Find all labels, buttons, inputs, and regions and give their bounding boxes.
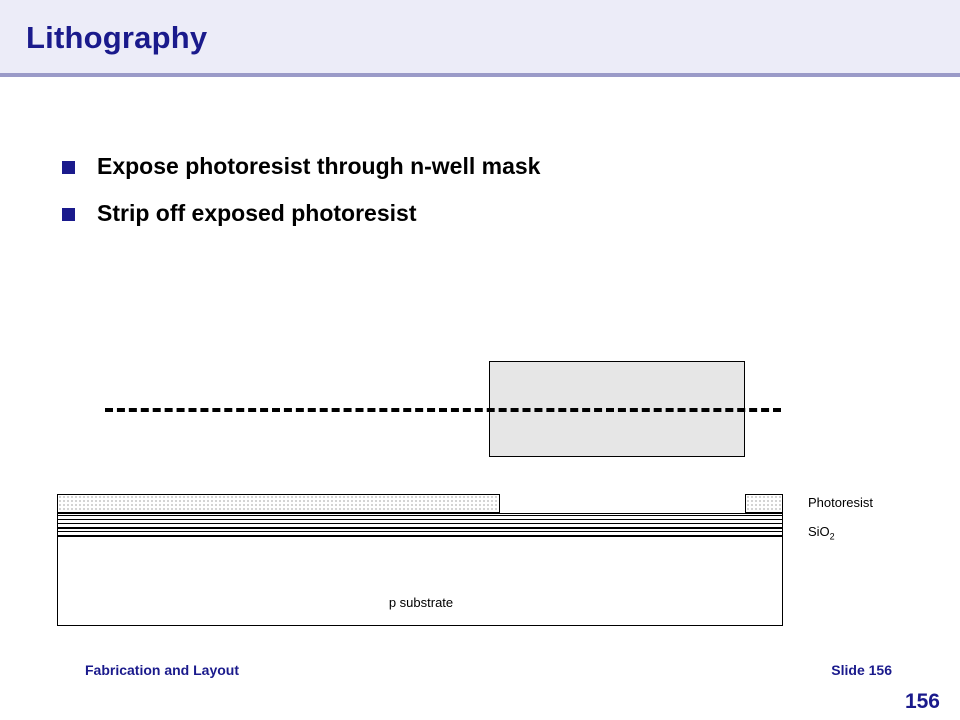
footer-slide-label: Slide 156 bbox=[831, 662, 892, 678]
sio2-layer-boundary bbox=[57, 528, 783, 529]
footer-section-label: Fabrication and Layout bbox=[85, 662, 239, 678]
photoresist-label: Photoresist bbox=[808, 495, 873, 510]
sio2-label-base: SiO bbox=[808, 524, 830, 539]
page-number: 156 bbox=[905, 690, 940, 714]
sio2-label-subscript: 2 bbox=[830, 532, 835, 542]
process-cross-section-diagram: p substrate Photoresist SiO2 bbox=[0, 0, 960, 720]
p-substrate-block: p substrate bbox=[57, 536, 783, 626]
photoresist-layer-right bbox=[745, 494, 783, 513]
photoresist-layer-left bbox=[57, 494, 500, 513]
p-substrate-label: p substrate bbox=[58, 595, 784, 610]
exposure-light-dashed-line bbox=[105, 408, 781, 412]
sio2-label: SiO2 bbox=[808, 524, 835, 542]
sio2-layer bbox=[57, 513, 783, 536]
